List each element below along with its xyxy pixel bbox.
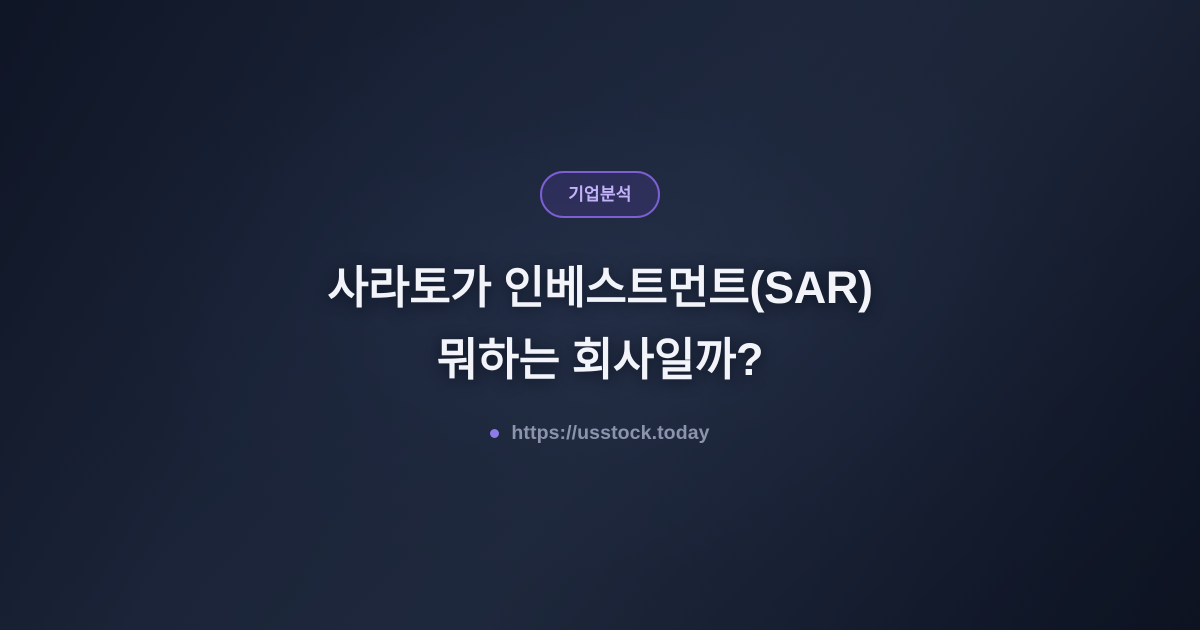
- page-title-line-2: 뭐하는 회사일까?: [327, 324, 872, 396]
- og-share-card: 기업분석 사라토가 인베스트먼트(SAR) 뭐하는 회사일까? https://…: [0, 0, 1200, 630]
- page-title-line-1: 사라토가 인베스트먼트(SAR): [327, 252, 872, 324]
- card-content: 기업분석 사라토가 인베스트먼트(SAR) 뭐하는 회사일까? https://…: [0, 171, 1200, 459]
- category-badge: 기업분석: [540, 171, 659, 218]
- site-url-label: https://usstock.today: [511, 422, 709, 445]
- site-url-row: https://usstock.today: [490, 422, 709, 445]
- page-title: 사라토가 인베스트먼트(SAR) 뭐하는 회사일까?: [327, 252, 872, 396]
- dot-icon: [490, 429, 499, 438]
